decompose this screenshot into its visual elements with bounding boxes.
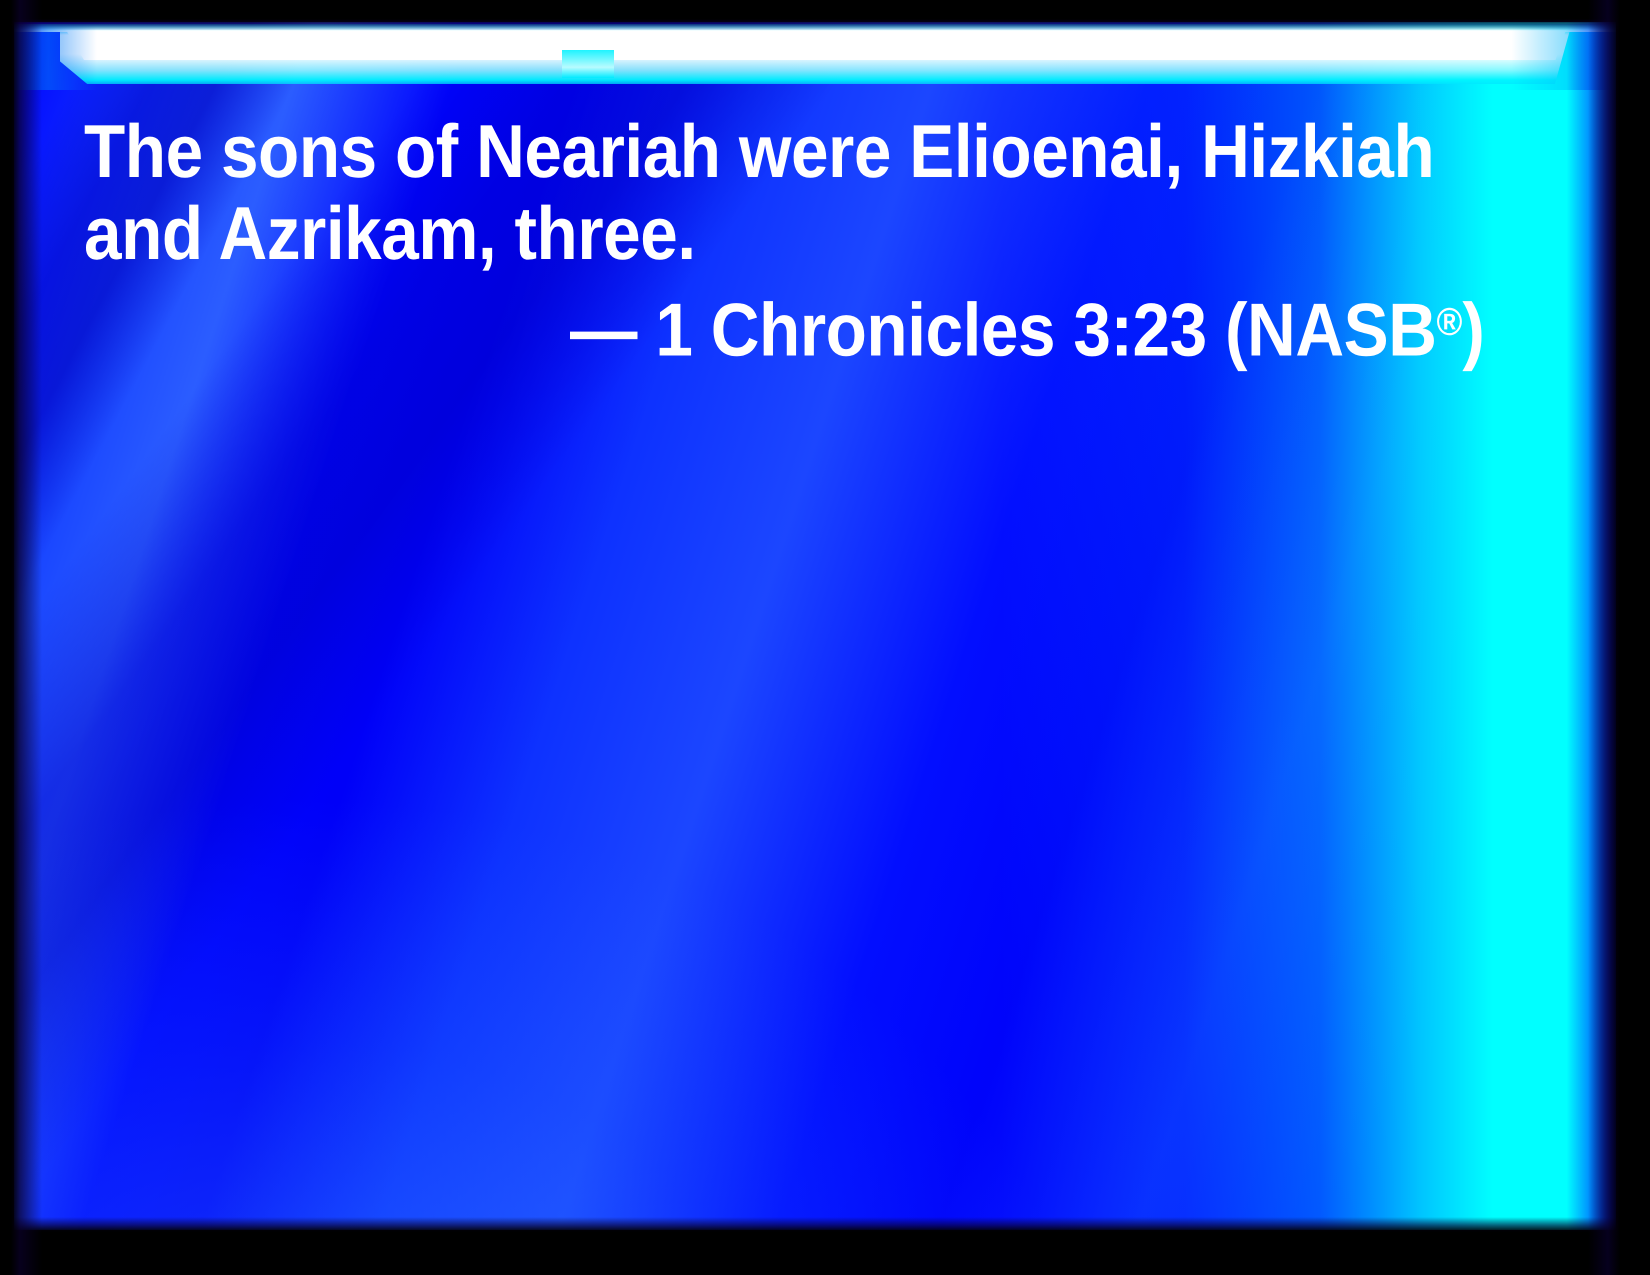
banner-left-fade [14,24,104,90]
registered-trademark-icon: ® [1437,301,1463,344]
citation-translation-close: ) [1462,287,1484,371]
verse-text-block: The sons of Neariah were Elioenai, Hizki… [84,110,1544,370]
banner-white-highlight [66,30,1566,60]
citation-dash: — [570,287,637,371]
citation-translation-open: (NASB [1225,287,1437,371]
verse-citation: — 1 Chronicles 3:23 (NASB®) [84,282,1398,370]
banner-cyan-notch [562,50,614,78]
verse-line-2: and Azrikam, three. [84,192,1398,274]
verse-line-1: The sons of Neariah were Elioenai, Hizki… [84,110,1398,192]
verse-slide: The sons of Neariah were Elioenai, Hizki… [0,0,1650,1275]
citation-chapter-verse: 3:23 [1073,287,1206,371]
banner-right-fade [1506,24,1616,90]
banner-cyan-hairline [14,24,1616,32]
citation-book: 1 Chronicles [655,287,1055,371]
banner-white-band [60,30,1570,84]
header-banner [14,24,1616,90]
